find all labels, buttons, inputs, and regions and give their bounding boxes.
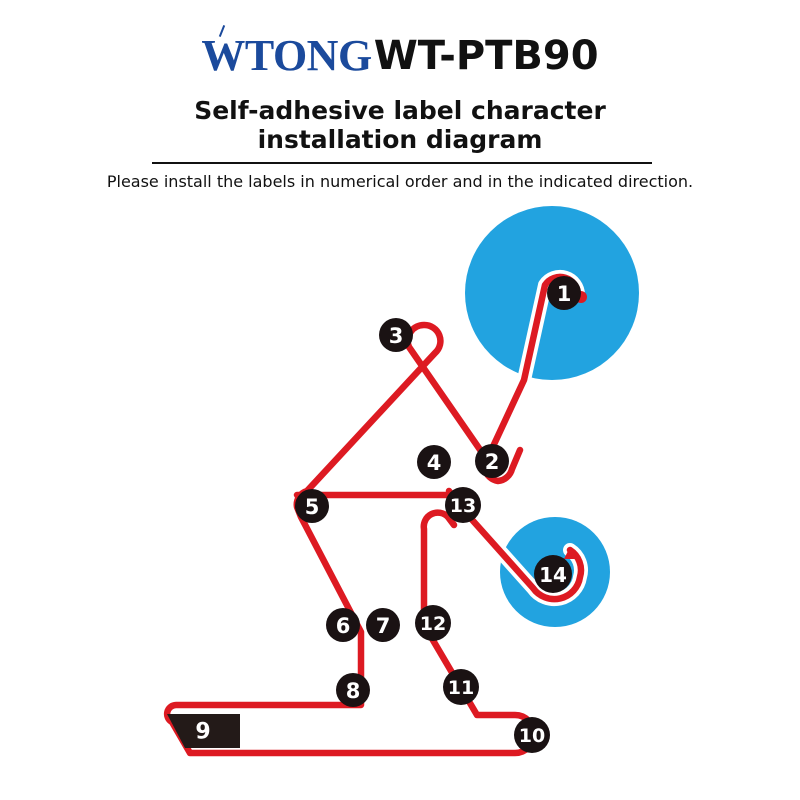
- diagram-canvas: 9 1 2 3 4: [0, 195, 800, 800]
- marker-10[interactable]: 10: [514, 717, 550, 753]
- marker-5[interactable]: 5: [295, 489, 329, 523]
- marker-14[interactable]: 14: [534, 555, 572, 593]
- marker-label-7: 7: [376, 614, 391, 638]
- marker-label-14: 14: [539, 563, 567, 587]
- marker-label-2: 2: [485, 450, 500, 474]
- marker-label-10: 10: [519, 725, 545, 747]
- belt-path-group: [167, 277, 587, 753]
- marker-label-6: 6: [336, 614, 351, 638]
- brand-row: WTONGWT-PTB90: [0, 30, 800, 81]
- marker-label-8: 8: [346, 679, 361, 703]
- model-name: WT-PTB90: [374, 33, 599, 79]
- marker-8[interactable]: 8: [336, 673, 370, 707]
- marker-label-11: 11: [448, 677, 474, 699]
- belt-routing-diagram: 9 1 2 3 4: [0, 195, 800, 800]
- page-title-line2: installation diagram: [100, 125, 700, 154]
- marker-label-12: 12: [420, 613, 446, 635]
- page-title-line1: Self-adhesive label character: [100, 96, 700, 125]
- marker-label-3: 3: [389, 324, 404, 348]
- marker-label-4: 4: [427, 451, 442, 475]
- marker-4[interactable]: 4: [417, 445, 451, 479]
- marker-3[interactable]: 3: [379, 318, 413, 352]
- page-title: Self-adhesive label character installati…: [100, 96, 700, 154]
- marker-6[interactable]: 6: [326, 608, 360, 642]
- marker-13[interactable]: 13: [445, 487, 481, 523]
- marker-12[interactable]: 12: [415, 605, 451, 641]
- marker-1[interactable]: 1: [547, 276, 581, 310]
- page-header: WTONGWT-PTB90 Self-adhesive label charac…: [0, 0, 800, 200]
- marker-2[interactable]: 2: [475, 444, 509, 478]
- marker-label-1: 1: [557, 282, 572, 306]
- brand-logo-text: WTONG: [201, 31, 371, 80]
- marker-label-13: 13: [450, 495, 476, 517]
- wtong-logo: WTONG: [201, 31, 371, 80]
- marker-label-9: 9: [195, 720, 210, 745]
- marker-label-5: 5: [305, 495, 320, 519]
- marker-11[interactable]: 11: [443, 669, 479, 705]
- diagram-page: WTONGWT-PTB90 Self-adhesive label charac…: [0, 0, 800, 800]
- page-subtitle: Please install the labels in numerical o…: [60, 172, 740, 191]
- marker-7[interactable]: 7: [366, 608, 400, 642]
- title-divider: [152, 162, 652, 164]
